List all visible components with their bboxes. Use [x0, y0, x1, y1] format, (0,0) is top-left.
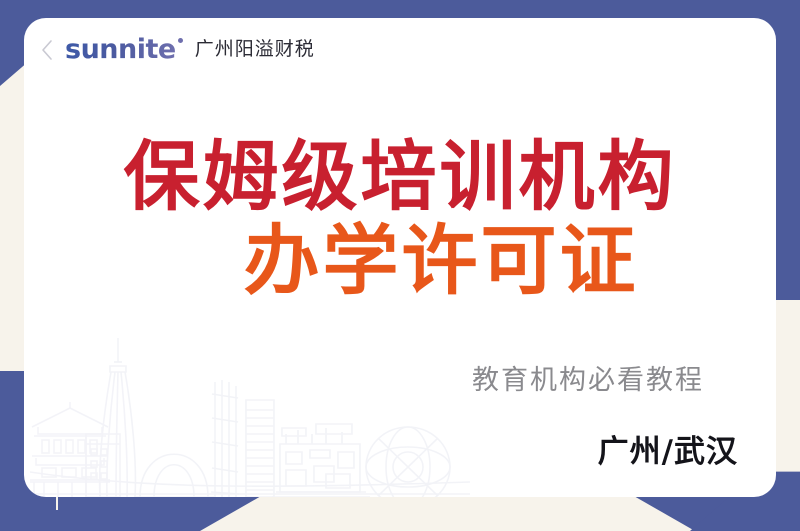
- cities-label: 广州/武汉: [598, 426, 738, 471]
- background-cream-bottom: [200, 497, 695, 531]
- poster-subtitle: 教育机构必看教程: [472, 358, 704, 397]
- headline-block: 保姆级培训机构 办学许可证: [24, 136, 776, 303]
- headline-line-2: 办学许可证: [24, 218, 776, 303]
- sunnite-logo: sunnite: [65, 36, 183, 63]
- chevron-left-icon[interactable]: [38, 37, 56, 63]
- guangzhou-skyline-icon: [30, 322, 470, 497]
- headline-line-1: 保姆级培训机构: [24, 136, 776, 218]
- poster-header: sunnite 广州阳溢财税: [38, 36, 315, 63]
- poster-card: sunnite 广州阳溢财税 保姆级培训机构 办学许可证 教育机构必看教程 广州…: [24, 18, 776, 497]
- logo-wordmark: sunnite: [65, 36, 176, 63]
- logo-dot-icon: [178, 38, 183, 43]
- promo-poster: sunnite 广州阳溢财税 保姆级培训机构 办学许可证 教育机构必看教程 广州…: [0, 0, 800, 531]
- brand-name: 广州阳溢财税: [195, 40, 315, 59]
